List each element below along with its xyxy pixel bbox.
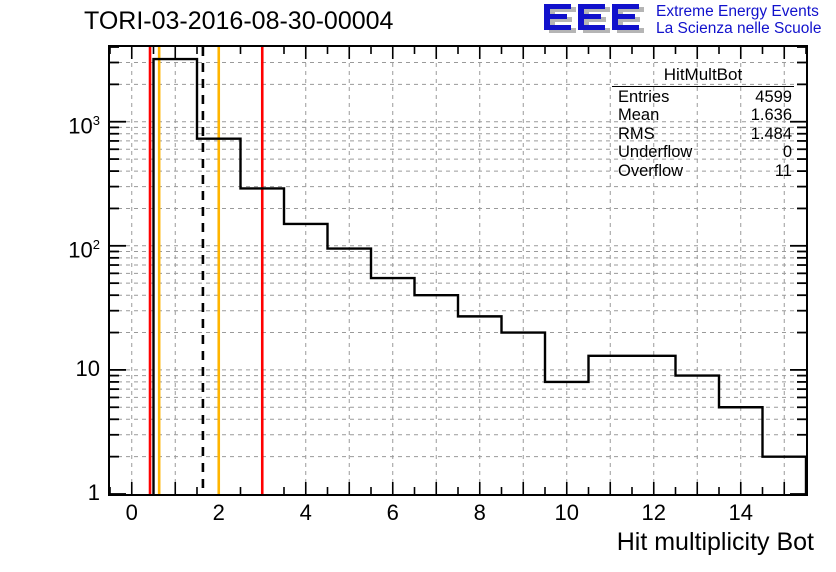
stats-rows: Entries4599Mean1.636RMS1.484Underflow0Ov… [612,88,794,181]
x-tick-label: 12 [634,502,674,524]
x-tick-label: 14 [721,502,761,524]
eee-logo-line1: Extreme Energy Events [656,3,819,20]
x-tick-label: 4 [286,502,326,524]
eee-logo: Extreme Energy Events La Scienza nelle S… [540,2,836,42]
y-tick-label: 103 [68,110,100,137]
x-tick-label: 2 [199,502,239,524]
stats-key: Mean [618,106,659,125]
y-tick-label: 102 [68,234,100,261]
stats-title: HitMultBot [612,66,794,87]
stats-key: Underflow [618,143,692,162]
stats-key: RMS [618,125,655,144]
stats-value: 0 [783,143,792,162]
eee-logo-line2: La Scienza nelle Scuole [656,20,821,37]
stats-row: Entries4599 [612,88,794,107]
y-tick-label: 10 [76,358,100,380]
stats-row: Underflow0 [612,143,794,162]
stats-key: Overflow [618,162,683,181]
eee-logo-mark-icon [540,3,650,37]
root-canvas: TORI-03-2016-08-30-00004 [0,0,836,572]
x-axis-title: Hit multiplicity Bot [617,528,814,556]
y-tick-label: 1 [88,482,100,504]
stats-row: RMS1.484 [612,125,794,144]
stats-value: 11 [775,162,792,181]
stats-value: 1.636 [751,106,792,125]
x-tick-label: 8 [460,502,500,524]
x-tick-label: 0 [112,502,152,524]
stats-row: Overflow11 [612,162,794,181]
stats-row: Mean1.636 [612,106,794,125]
stats-key: Entries [618,88,669,107]
stats-value: 4599 [755,88,792,107]
stats-value: 1.484 [751,125,792,144]
marker-lines [150,47,262,494]
eee-logo-text: Extreme Energy Events La Scienza nelle S… [656,3,821,37]
x-tick-label: 10 [547,502,587,524]
page-title: TORI-03-2016-08-30-00004 [84,6,393,36]
x-tick-label: 6 [373,502,413,524]
stats-box[interactable]: HitMultBot Entries4599Mean1.636RMS1.484U… [612,66,794,181]
